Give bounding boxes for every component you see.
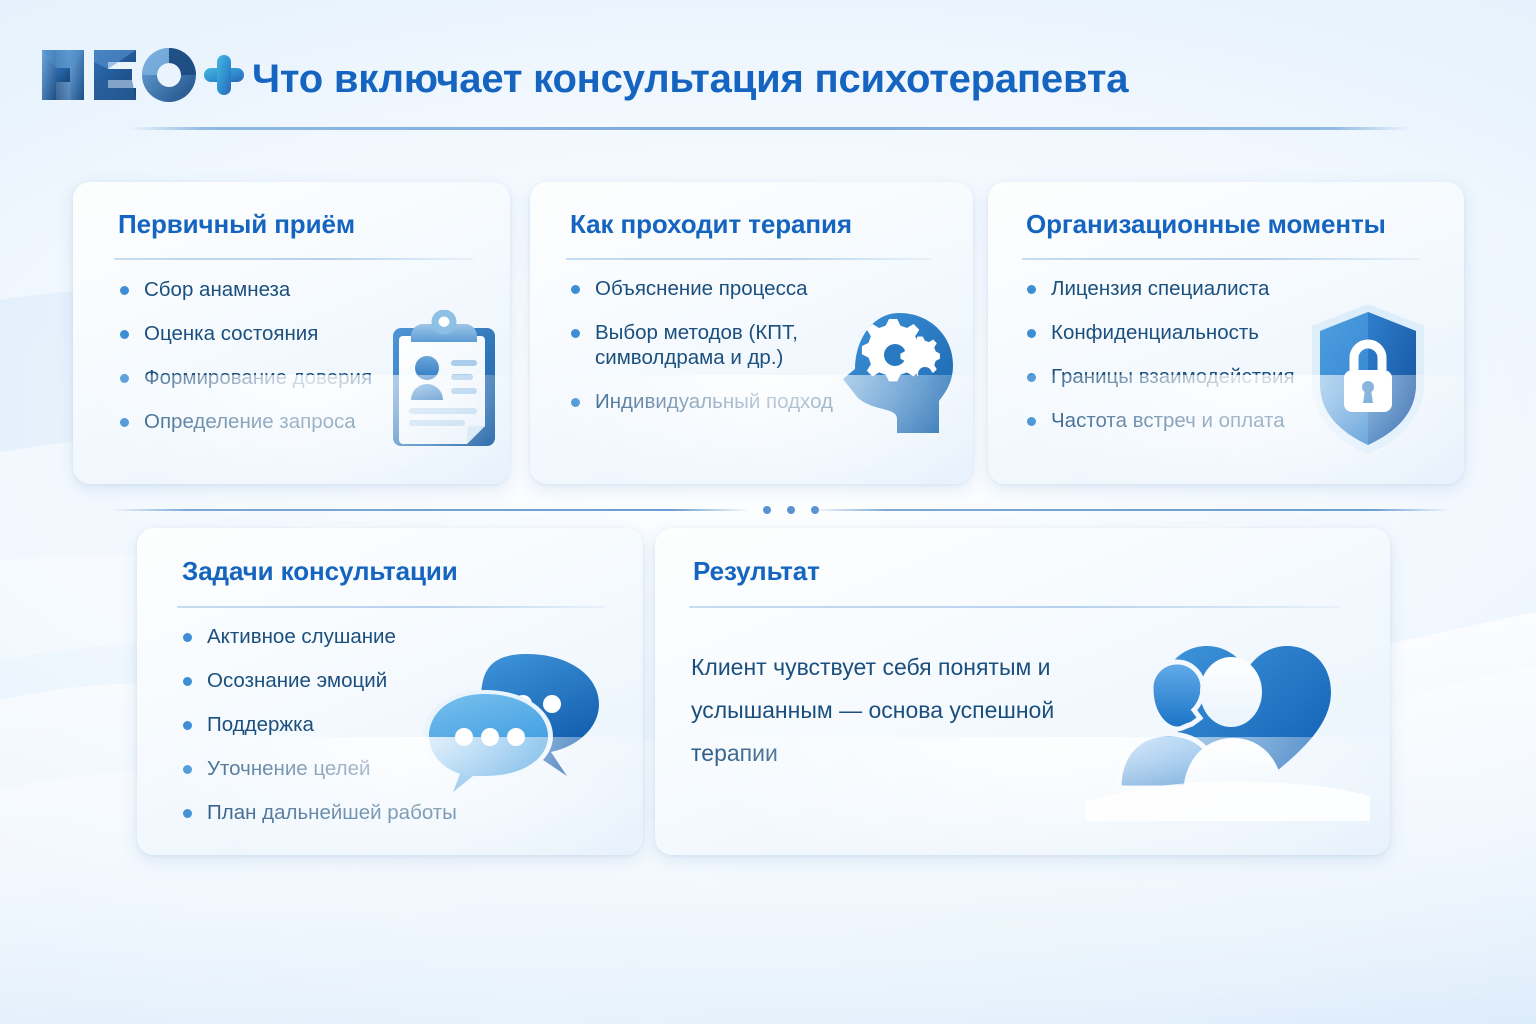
list-item: Лицензия специалиста bbox=[1024, 276, 1324, 301]
bullet-list: Объяснение процесса Выбор методов (КПТ, … bbox=[568, 276, 840, 414]
card-title-divider bbox=[177, 606, 605, 608]
speech-bubbles-icon bbox=[419, 632, 605, 797]
bullet-list: Лицензия специалиста Конфиденциальность … bbox=[1024, 276, 1324, 433]
list-item: Выбор методов (КПТ, символдрама и др.) bbox=[568, 320, 840, 370]
list-item: Границы взаимодействия bbox=[1024, 364, 1324, 389]
list-item: План дальнейшей работы bbox=[180, 800, 480, 825]
divider-dot bbox=[787, 506, 795, 514]
card-title-divider bbox=[566, 258, 931, 260]
card-title: Как проходит терапия bbox=[570, 209, 852, 240]
page-header: Что включает консультация психотерапевта bbox=[0, 0, 1536, 140]
card-primary-intake[interactable]: Первичный приём Сбор анамнеза Оценка сос… bbox=[73, 182, 510, 484]
section-divider bbox=[110, 503, 1450, 517]
card-title: Организационные моменты bbox=[1026, 209, 1386, 240]
result-body-text: Клиент чувствует себя понятым и услышанн… bbox=[691, 646, 1091, 775]
neo-plus-logo bbox=[38, 44, 246, 106]
card-result[interactable]: Результат Клиент чувствует себя понятым … bbox=[655, 528, 1390, 855]
divider-dot bbox=[763, 506, 771, 514]
list-item: Частота встреч и оплата bbox=[1024, 408, 1324, 433]
card-title: Первичный приём bbox=[118, 209, 355, 240]
card-title: Задачи консультации bbox=[182, 556, 458, 587]
list-item: Определение запроса bbox=[117, 409, 427, 434]
divider-line-right bbox=[810, 509, 1450, 511]
list-item: Конфиденциальность bbox=[1024, 320, 1324, 345]
card-title-divider bbox=[1022, 258, 1420, 260]
list-item: Оценка состояния bbox=[117, 321, 427, 346]
header-divider bbox=[128, 127, 1410, 130]
card-consultation-goals[interactable]: Задачи консультации Активное слушание Ос… bbox=[137, 528, 643, 855]
list-item: Формирование доверия bbox=[117, 365, 427, 390]
list-item: Сбор анамнеза bbox=[117, 277, 427, 302]
card-title: Результат bbox=[693, 556, 820, 587]
bullet-list: Сбор анамнеза Оценка состояния Формирова… bbox=[117, 277, 427, 434]
clipboard-profile-icon bbox=[385, 310, 503, 450]
list-item: Индивидуальный подход bbox=[568, 389, 840, 414]
shield-lock-icon bbox=[1304, 300, 1432, 460]
page-title: Что включает консультация психотерапевта bbox=[252, 57, 1128, 102]
card-how-therapy-works[interactable]: Как проходит терапия Объяснение процесса… bbox=[530, 182, 973, 484]
head-gears-icon bbox=[833, 307, 963, 452]
infographic-canvas: Что включает консультация психотерапевта… bbox=[0, 0, 1536, 1024]
card-organizational[interactable]: Организационные моменты Лицензия специал… bbox=[988, 182, 1464, 484]
divider-line-left bbox=[110, 509, 750, 511]
card-title-divider bbox=[114, 258, 474, 260]
heart-people-icon bbox=[1085, 606, 1370, 821]
list-item: Объяснение процесса bbox=[568, 276, 840, 301]
